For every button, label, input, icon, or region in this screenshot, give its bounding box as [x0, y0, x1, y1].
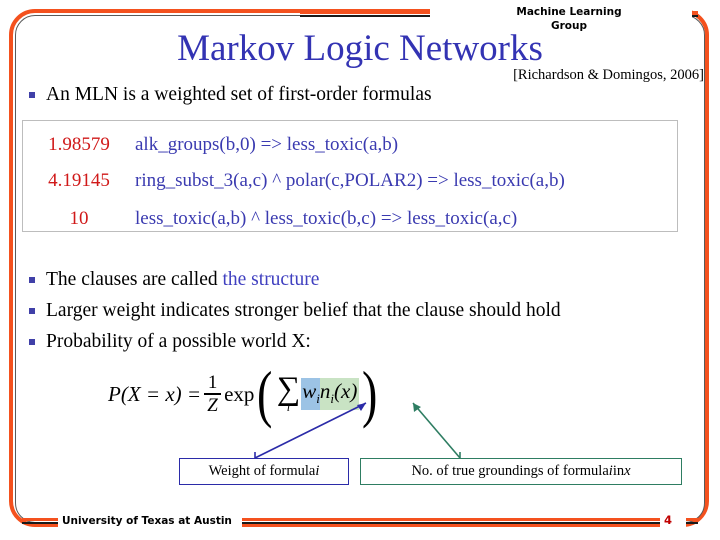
- formula-weight: 4.19145: [23, 170, 135, 192]
- groundings-callout-world: x: [624, 463, 630, 480]
- bullet-square-icon: [29, 92, 35, 98]
- formula-weight: 1.98579: [23, 134, 135, 156]
- bullet-item-1: An MLN is a weighted set of first-order …: [29, 83, 432, 107]
- slide: Machine Learning Group Markov Logic Netw…: [0, 0, 720, 540]
- groundings-callout: No. of true groundings of formula i in x: [360, 458, 682, 485]
- formula-weight: 10: [23, 208, 135, 230]
- bullet-item-4: Probability of a possible world X:: [29, 330, 311, 354]
- formula-clause: less_toxic(a,b) ^ less_toxic(b,c) => les…: [135, 208, 517, 230]
- sigma-icon: ∑: [277, 375, 301, 403]
- equation-lhs: P(X = x) =: [108, 382, 201, 407]
- groundings-callout-in: in: [613, 463, 624, 480]
- bullet-text-3: Larger weight indicates stronger belief …: [46, 299, 561, 323]
- formula-row: 4.19145 ring_subst_3(a,c) ^ polar(c,POLA…: [23, 163, 677, 199]
- summation-operator: ∑ i: [277, 375, 301, 413]
- formula-clause: ring_subst_3(a,c) ^ polar(c,POLAR2) => l…: [135, 170, 565, 192]
- weight-callout-label: Weight of formula: [209, 463, 316, 480]
- bullet-square-icon: [29, 308, 35, 314]
- bullet-item-2: The clauses are called the structure: [29, 268, 319, 292]
- equation-fraction: 1 Z: [204, 373, 221, 415]
- probability-equation: P(X = x) = 1 Z exp ( ∑ i wi ni(x) ): [108, 366, 381, 422]
- count-term-argument: (x): [334, 379, 357, 403]
- equation-paren-open: (: [257, 370, 272, 418]
- groundings-callout-label: No. of true groundings of formula: [411, 463, 608, 480]
- bullet-square-icon: [29, 339, 35, 345]
- fraction-denominator: Z: [207, 395, 218, 415]
- count-term-symbol: n: [320, 379, 331, 403]
- footer-institution: University of Texas at Austin: [62, 514, 232, 528]
- equation-paren-close: ): [362, 370, 377, 418]
- bullet-text-1: An MLN is a weighted set of first-order …: [46, 83, 432, 107]
- footer-page-number: 4: [664, 513, 672, 528]
- count-term-highlight: ni(x): [320, 378, 359, 409]
- summation-index: i: [287, 401, 290, 413]
- formula-clause: alk_groups(b,0) => less_toxic(a,b): [135, 134, 398, 156]
- weight-term-highlight: wi: [301, 378, 320, 409]
- weighted-formula-box: 1.98579 alk_groups(b,0) => less_toxic(a,…: [22, 120, 678, 232]
- formula-row: 1.98579 alk_groups(b,0) => less_toxic(a,…: [23, 127, 677, 163]
- equation-exp-label: exp: [224, 382, 254, 407]
- bullet-text-2-plain: The clauses are called: [46, 269, 222, 290]
- weight-term-symbol: w: [302, 379, 316, 403]
- bullet-square-icon: [29, 277, 35, 283]
- citation-reference: [Richardson & Domingos, 2006]: [513, 66, 704, 84]
- bullet-text-2-accent: the structure: [222, 269, 319, 290]
- weight-callout-index: i: [315, 463, 319, 480]
- formula-row: 10 less_toxic(a,b) ^ less_toxic(b,c) => …: [23, 201, 677, 237]
- fraction-numerator: 1: [208, 373, 218, 393]
- bullet-item-3: Larger weight indicates stronger belief …: [29, 299, 561, 323]
- page-title: Markov Logic Networks: [0, 28, 720, 70]
- bullet-text-4: Probability of a possible world X:: [46, 330, 311, 354]
- weight-callout: Weight of formula i: [179, 458, 349, 485]
